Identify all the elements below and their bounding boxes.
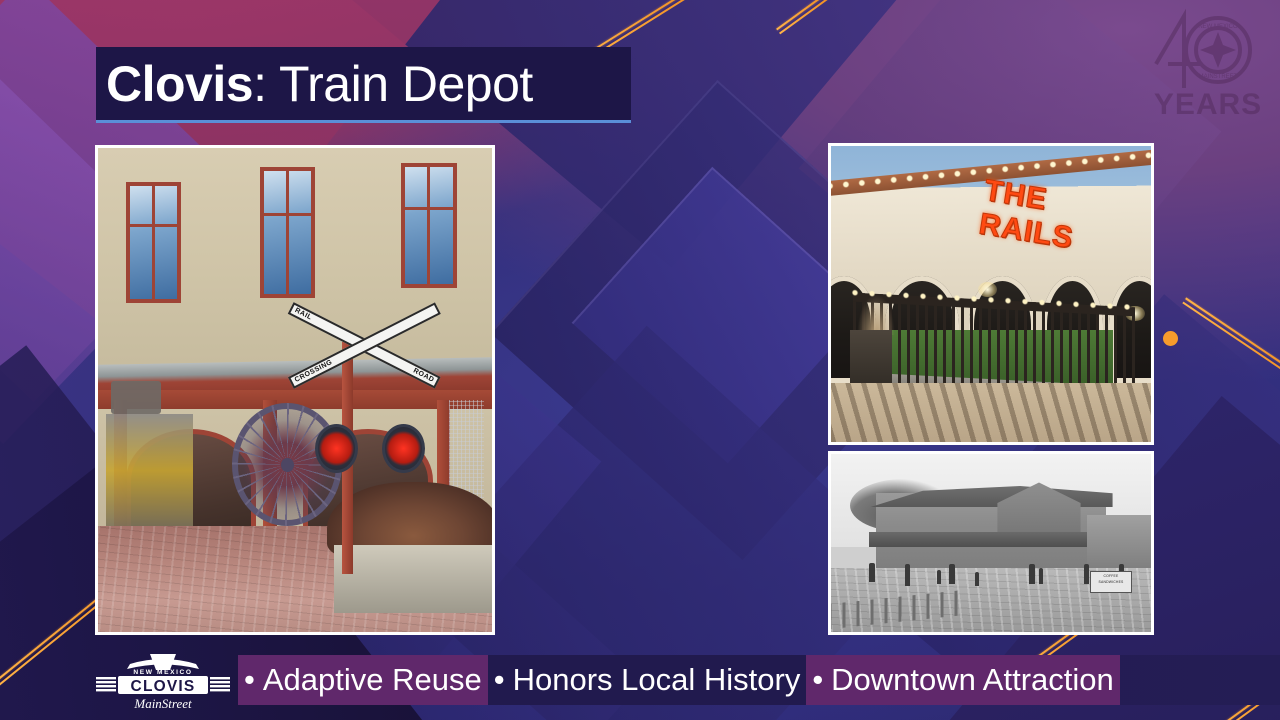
forty-years-watermark: NEW MEXICO MAINSTREET YEARS xyxy=(1144,2,1274,124)
key-points-banner: • Adaptive Reuse • Honors Local History … xyxy=(238,655,1280,705)
logo-line-new-mexico: NEW MEXICO xyxy=(133,669,192,676)
railroad-crossing-sign: RAIL ROAD CROSSING xyxy=(282,322,447,370)
banner-item-honors-local-history: • Honors Local History xyxy=(488,655,807,705)
svg-text:NEW MEXICO: NEW MEXICO xyxy=(1198,24,1238,30)
image-the-rails: THE RAILS xyxy=(828,143,1154,445)
image-depot-exterior: RAIL ROAD CROSSING xyxy=(95,145,495,635)
accent-line-right xyxy=(1185,297,1280,388)
banner-label-downtown-attraction: Downtown Attraction xyxy=(831,662,1114,698)
slide-canvas: NEW MEXICO MAINSTREET YEARS Clovis: Trai… xyxy=(0,0,1280,720)
logo-line-clovis: CLOVIS xyxy=(131,678,196,695)
banner-item-adaptive-reuse: • Adaptive Reuse xyxy=(238,655,488,705)
title-emphasis: Clovis xyxy=(106,56,253,112)
banner-label-adaptive-reuse: Adaptive Reuse xyxy=(263,662,482,698)
title-rest: : Train Depot xyxy=(253,56,533,112)
logo-line-mainstreet: MainStreet xyxy=(133,696,192,711)
slide-title-box: Clovis: Train Depot xyxy=(96,47,631,123)
bullet-icon: • xyxy=(812,662,823,698)
banner-item-downtown-attraction: • Downtown Attraction xyxy=(806,655,1119,705)
bullet-icon: • xyxy=(494,662,505,698)
bullet-icon: • xyxy=(244,662,255,698)
coffee-sandwiches-sign: COFFEE SANDWICHES xyxy=(1090,571,1132,592)
accent-dot-right xyxy=(1163,331,1178,346)
image-historic-depot: COFFEE SANDWICHES xyxy=(828,451,1154,635)
svg-text:MAINSTREET: MAINSTREET xyxy=(1199,74,1238,80)
clovis-mainstreet-logo: NEW MEXICO CLOVIS MainStreet xyxy=(90,650,236,716)
bg-shape-indigo-inner xyxy=(572,167,869,464)
watermark-years-label: YEARS xyxy=(1154,88,1262,121)
page-title: Clovis: Train Depot xyxy=(96,59,533,109)
banner-label-honors-local-history: Honors Local History xyxy=(513,662,801,698)
accent-line-top-right xyxy=(776,0,834,30)
